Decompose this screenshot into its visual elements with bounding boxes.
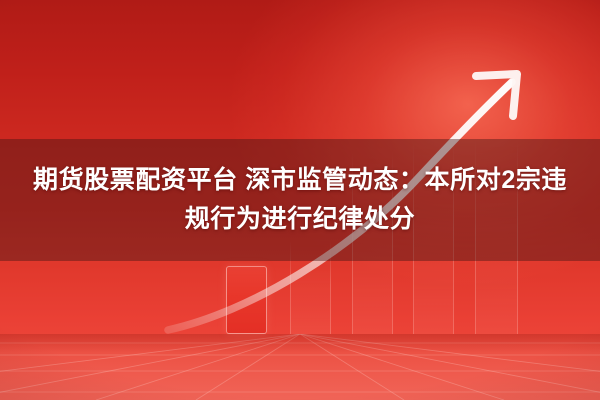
headline-overlay-band: 期货股票配资平台 深市监管动态：本所对2宗违 规行为进行纪律处分 (0, 139, 600, 261)
news-banner-image: 期货股票配资平台 深市监管动态：本所对2宗违 规行为进行纪律处分 (0, 0, 600, 400)
headline-line-1: 期货股票配资平台 深市监管动态：本所对2宗违 (33, 161, 567, 201)
headline-line-2: 规行为进行纪律处分 (185, 200, 415, 240)
